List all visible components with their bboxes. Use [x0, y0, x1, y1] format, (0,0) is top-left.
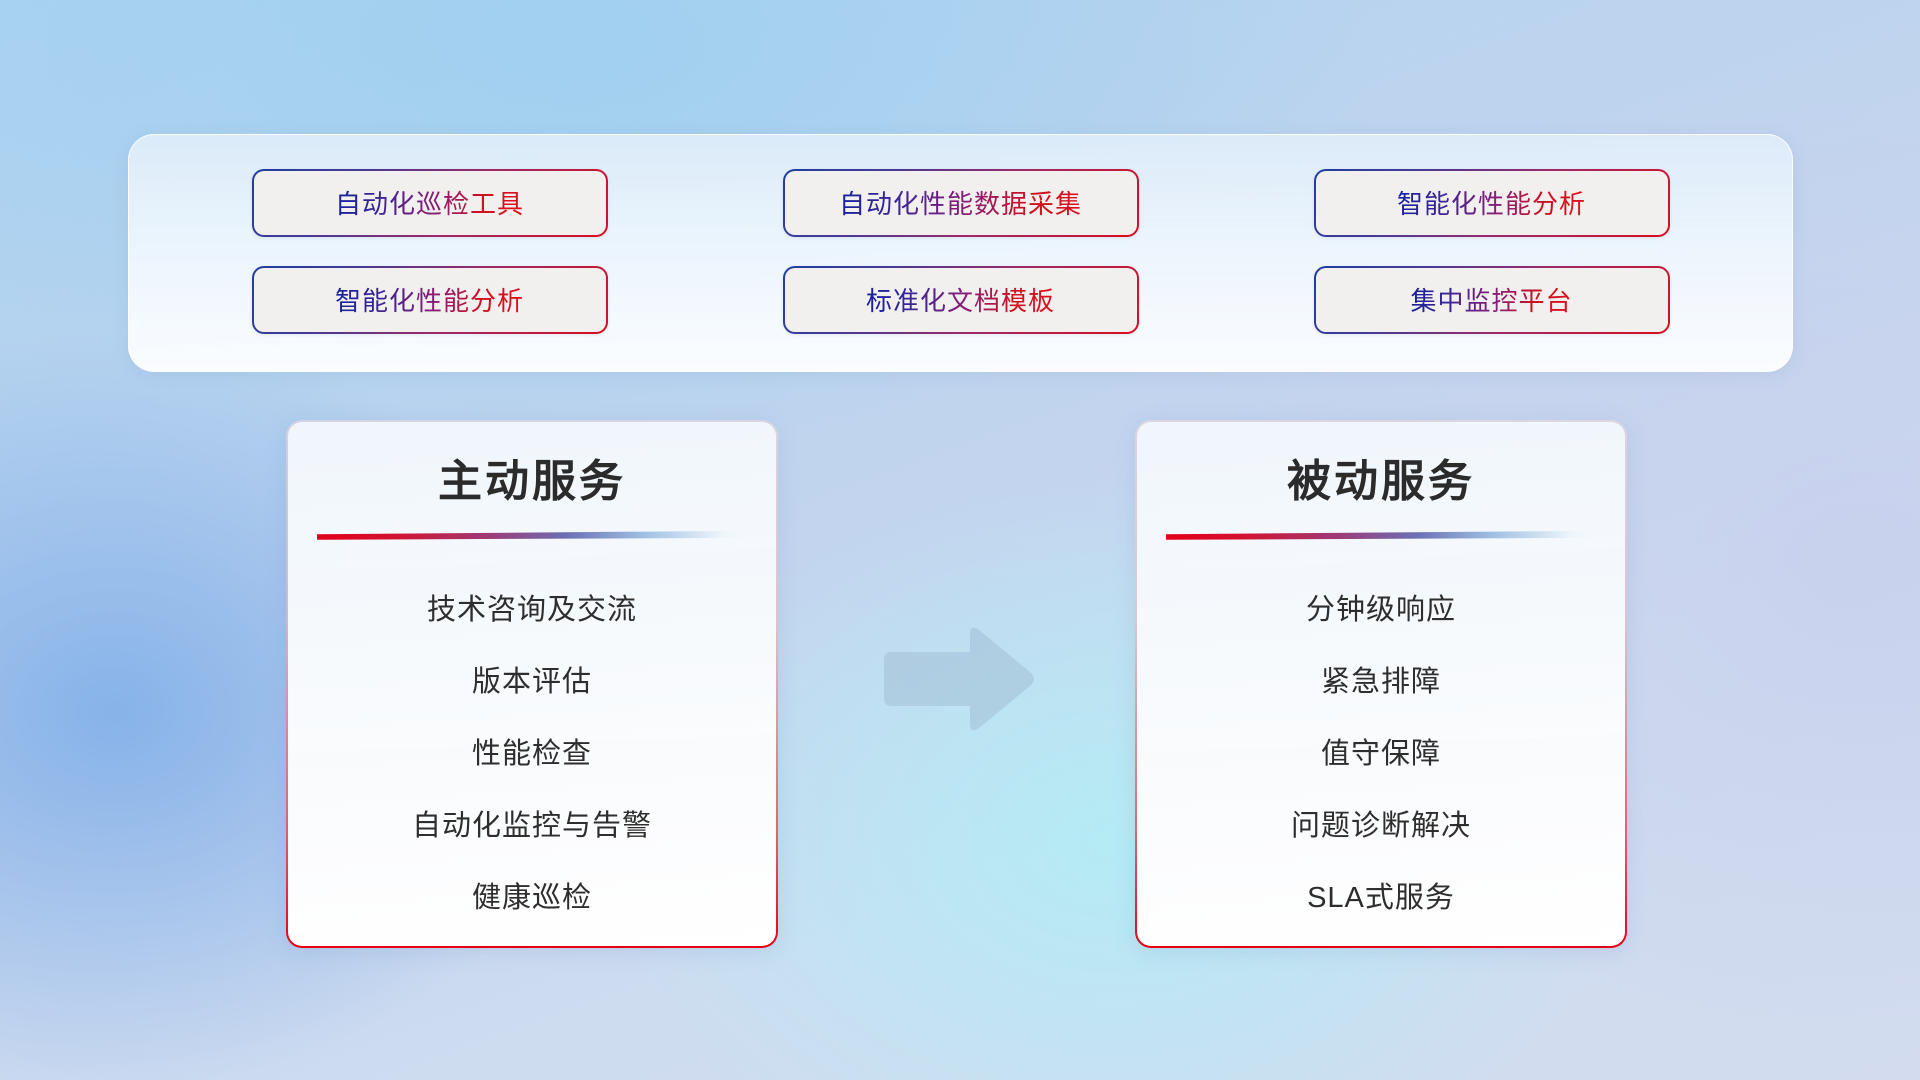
slide-canvas: 自动化巡检工具 自动化性能数据采集 智能化性能分析 智能化性能分析 标准化文档模… [0, 0, 1920, 1080]
capability-pill-label: 智能化性能分析 [335, 281, 524, 318]
service-item: SLA式服务 [1307, 862, 1455, 934]
service-item: 健康巡检 [472, 862, 592, 934]
capability-pill-label: 集中监控平台 [1410, 281, 1572, 318]
service-item: 版本评估 [472, 646, 592, 718]
service-item: 分钟级响应 [1306, 574, 1456, 646]
service-item-list: 技术咨询及交流 版本评估 性能检查 自动化监控与告警 健康巡检 [290, 574, 774, 934]
service-item-list: 分钟级响应 紧急排障 值守保障 问题诊断解决 SLA式服务 [1139, 574, 1623, 934]
service-card-reactive: 被动服务 分钟级响应 紧急排障 值守保障 问题诊断解决 SLA式服务 [1135, 420, 1627, 948]
capability-pill[interactable]: 智能化性能分析 [1314, 169, 1670, 237]
card-title: 主动服务 [438, 456, 626, 509]
service-item: 自动化监控与告警 [412, 790, 652, 862]
card-title: 被动服务 [1287, 456, 1475, 509]
service-card-proactive: 主动服务 技术咨询及交流 版本评估 性能检查 自动化监控与告警 健康巡检 [286, 420, 778, 948]
capability-pill[interactable]: 智能化性能分析 [252, 266, 608, 334]
service-item: 性能检查 [472, 718, 592, 790]
service-item: 问题诊断解决 [1291, 790, 1471, 862]
capability-pill-label: 智能化性能分析 [1397, 184, 1586, 221]
capability-panel: 自动化巡检工具 自动化性能数据采集 智能化性能分析 智能化性能分析 标准化文档模… [128, 134, 1793, 372]
title-divider [317, 531, 747, 540]
capability-pill[interactable]: 自动化巡检工具 [252, 169, 608, 237]
service-item: 技术咨询及交流 [427, 574, 637, 646]
service-item: 紧急排障 [1321, 646, 1441, 718]
capability-pill-label: 自动化性能数据采集 [839, 184, 1082, 221]
capability-pill[interactable]: 标准化文档模板 [783, 266, 1139, 334]
capability-pill-label: 自动化巡检工具 [335, 184, 524, 221]
title-divider [1166, 531, 1596, 540]
service-item: 值守保障 [1321, 718, 1441, 790]
capability-pill-label: 标准化文档模板 [866, 281, 1055, 318]
arrow-right-icon [878, 624, 1038, 734]
capability-pill[interactable]: 自动化性能数据采集 [783, 169, 1139, 237]
capability-pill[interactable]: 集中监控平台 [1314, 266, 1670, 334]
